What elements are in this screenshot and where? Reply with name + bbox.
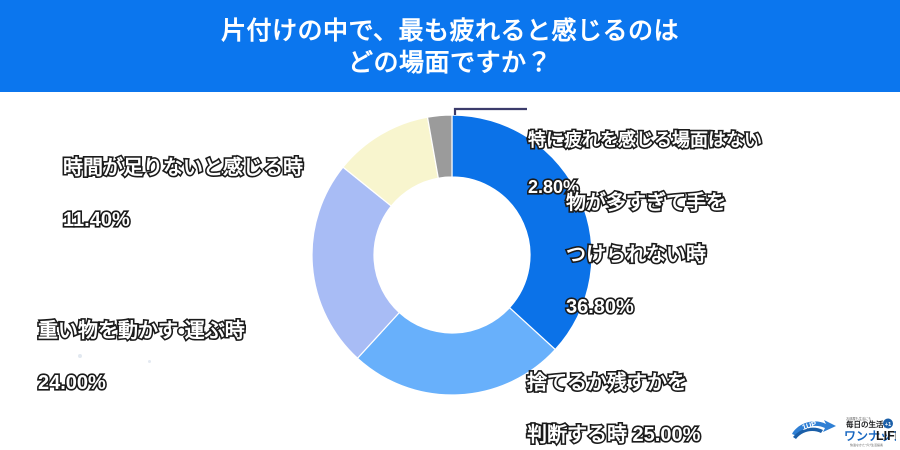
logo-svg: 1UP お部屋も生活にも 毎日の生活に +1 ワンナップ LIFE 快適なかたづ… bbox=[790, 414, 896, 448]
callout-decide-line1: 捨てるか残すかを bbox=[527, 370, 700, 396]
callout-too-many-things-line2: つけられない時 bbox=[566, 242, 726, 268]
callout-too-many-things-value: 36.80% bbox=[566, 294, 726, 320]
callout-too-many-things: 物が多すぎて手を つけられない時 36.80% bbox=[566, 164, 726, 346]
logo-brand-latin: LIFE bbox=[876, 429, 896, 443]
page-header: 片付けの中で、最も疲れると感じるのは どの場面ですか？ bbox=[0, 0, 900, 92]
page-title-line-1: 片付けの中で、最も疲れると感じるのは bbox=[221, 15, 679, 47]
callout-heavy-items-line1: 重い物を動かす・運ぶ時 bbox=[38, 318, 245, 344]
callout-decide-line2: 判断する時 25.00% bbox=[527, 422, 700, 448]
chart-stage: 特に疲れを感じる場面はない 2.80% 物が多すぎて手を つけられない時 36.… bbox=[0, 92, 900, 450]
svg-text:+1: +1 bbox=[885, 422, 891, 428]
onenup-life-logo: 1UP お部屋も生活にも 毎日の生活に +1 ワンナップ LIFE 快適なかたづ… bbox=[790, 414, 896, 448]
callout-not-enough-time-value: 11.40% bbox=[63, 207, 303, 233]
callout-not-enough-time: 時間が足りないと感じる時 11.40% bbox=[63, 129, 303, 259]
logo-sub: 快適なかたづけ生活提案 bbox=[850, 442, 883, 447]
one-up-arrow-icon: 1UP bbox=[792, 419, 836, 439]
callout-too-many-things-line1: 物が多すぎて手を bbox=[566, 190, 726, 216]
callout-not-enough-time-line1: 時間が足りないと感じる時 bbox=[63, 155, 303, 181]
infographic-page: 片付けの中で、最も疲れると感じるのは どの場面ですか？ 特に疲れを感じる場面はな… bbox=[0, 0, 900, 450]
callout-no-fatigue-text: 特に疲れを感じる場面はない bbox=[528, 129, 762, 152]
callout-decide-keep-discard: 捨てるか残すかを 判断する時 25.00% bbox=[527, 344, 700, 450]
callout-heavy-items: 重い物を動かす・運ぶ時 24.00% bbox=[38, 292, 245, 422]
page-title-line-2: どの場面ですか？ bbox=[348, 47, 552, 79]
callout-heavy-items-value: 24.00% bbox=[38, 370, 245, 396]
